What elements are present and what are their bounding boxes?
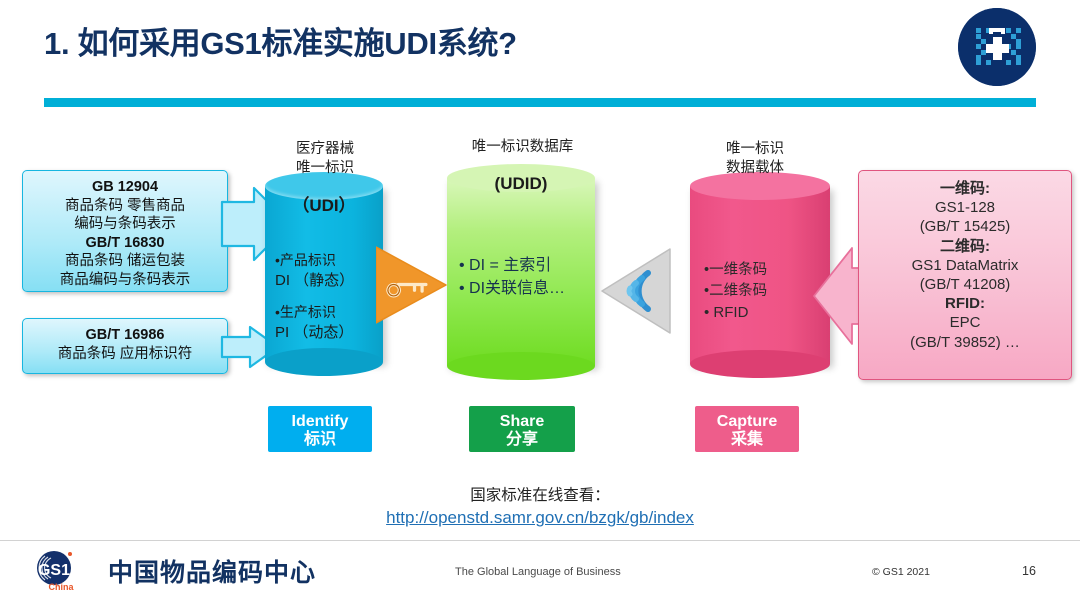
box-line: GB 12904 (23, 178, 227, 197)
standards-online-note: 国家标准在线查看： (0, 483, 1080, 505)
cylinder-bottom-ellipse (265, 348, 383, 376)
organization-name: 中国物品编码中心 (108, 553, 316, 589)
carrier-item: • RFID (704, 302, 830, 324)
box-line: 商品条码 应用标识符 (23, 345, 227, 364)
box-line: EPC (859, 313, 1071, 332)
footer-copyright: © GS1 2021 (872, 566, 930, 578)
carrier-cap-label: 唯一标识 数据载体 (680, 140, 830, 178)
pill-label-cn: 采集 (695, 431, 799, 449)
box-line: (GB/T 15425) (859, 217, 1071, 236)
carrier-item: •二维条码 (704, 281, 830, 302)
gb-standards-box: GB 12904 商品条码 零售商品 编码与条码表示 GB/T 16830 商品… (22, 170, 228, 292)
title-underline-rule (44, 98, 1036, 107)
udi-item: •产品标识 (275, 250, 383, 270)
pill-label-cn: 分享 (469, 431, 575, 449)
gs1-logo-sub: China (48, 582, 74, 592)
udi-item: PI （动态） (275, 322, 383, 344)
footer-page-number: 16 (1022, 564, 1036, 578)
box-line: (GB/T 39852) … (859, 333, 1071, 352)
pill-identify: Identify 标识 (268, 406, 372, 452)
udid-inner-title: (UDID) (447, 172, 595, 197)
udi-item: •生产标识 (275, 302, 383, 322)
box-line: (GB/T 41208) (859, 275, 1071, 294)
standards-online-link[interactable]: http://openstd.samr.gov.cn/bzgk/gb/index (0, 508, 1080, 528)
cylinder-udid: (UDID) • DI = 主索引 • DI关联信息… (447, 164, 595, 380)
pill-capture: Capture 采集 (695, 406, 799, 452)
box-line: 一维码: (859, 179, 1071, 198)
box-line: 商品条码 零售商品 (23, 197, 227, 216)
pill-label-en: Capture (695, 413, 799, 431)
page-title: 1. 如何采用GS1标准实施UDI系统? (44, 18, 517, 63)
carrier-item: •一维条码 (704, 260, 830, 281)
box-line: GS1 DataMatrix (859, 256, 1071, 275)
box-line: 商品编码与条码表示 (23, 271, 227, 290)
footer-divider (0, 540, 1080, 541)
svg-text:GS1: GS1 (38, 562, 70, 579)
gb-ai-box: GB/T 16986 商品条码 应用标识符 (22, 318, 228, 374)
pill-label-en: Share (469, 413, 575, 431)
box-line: 二维码: (859, 237, 1071, 256)
udi-cap-label: 医疗器械 唯一标识 (255, 140, 395, 178)
udid-item: • DI关联信息… (459, 277, 595, 300)
box-line: GB/T 16830 (23, 234, 227, 253)
box-line: RFID: (859, 294, 1071, 313)
arrow-carrier-to-udid (598, 245, 674, 337)
box-line: 商品条码 储运包装 (23, 252, 227, 271)
cylinder-bottom-ellipse (447, 352, 595, 380)
medical-kit-datamatrix-icon (958, 8, 1036, 86)
pill-label-cn: 标识 (268, 431, 372, 449)
data-carrier-standards-box: 一维码: GS1-128 (GB/T 15425) 二维码: GS1 DataM… (858, 170, 1072, 380)
udid-item: • DI = 主索引 (459, 254, 595, 277)
gs1-china-logo: GS1 China (30, 550, 100, 592)
box-line: GS1-128 (859, 198, 1071, 217)
cylinder-data-carrier: •一维条码 •二维条码 • RFID (690, 172, 830, 378)
udid-cap-label: 唯一标识数据库 (440, 138, 605, 157)
arrow-udi-to-udid (376, 243, 450, 327)
box-line: 编码与条码表示 (23, 215, 227, 234)
cylinder-udi: （UDI） •产品标识 DI （静态） •生产标识 PI （动态） (265, 172, 383, 376)
pill-label-en: Identify (268, 413, 372, 431)
pill-share: Share 分享 (469, 406, 575, 452)
cylinder-bottom-ellipse (690, 350, 830, 378)
udi-inner-title: （UDI） (265, 194, 383, 219)
udi-item: DI （静态） (275, 270, 383, 292)
footer-tagline: The Global Language of Business (455, 566, 621, 578)
box-line: GB/T 16986 (23, 326, 227, 345)
